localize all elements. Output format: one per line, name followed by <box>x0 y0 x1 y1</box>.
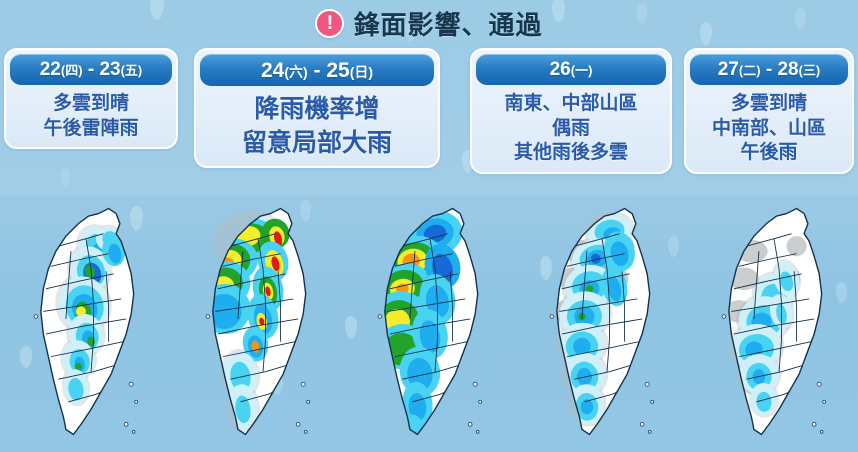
forecast-card-1-line-1: 留意局部大雨 <box>200 127 434 161</box>
taiwan-rainfall-map-26b-svg <box>516 196 688 452</box>
forecast-card-0-date: 22(四) - 23(五) <box>40 60 143 79</box>
forecast-card-0-date-pill: 22(四) - 23(五) <box>10 54 172 85</box>
taiwan-rainfall-map-26 <box>344 196 516 452</box>
forecast-card-2-line-2: 其他雨後多雲 <box>476 141 666 166</box>
forecast-card-1-date-pill: 24(六) - 25(日) <box>200 54 434 86</box>
taiwan-rainfall-map-22-23 <box>0 196 172 452</box>
taiwan-rainfall-map-27-28 <box>688 196 858 452</box>
forecast-card-0-line-0: 多雲到晴 <box>10 92 172 117</box>
forecast-card-3[interactable]: 27(二) - 28(三) 多雲到晴 中南部、山區 午後雨 <box>684 48 854 174</box>
forecast-card-2-date: 26(一) <box>550 60 593 79</box>
raindrop-decor <box>60 168 70 187</box>
taiwan-rainfall-map-27-28-svg <box>688 196 858 452</box>
forecast-card-3-body: 多雲到晴 中南部、山區 午後雨 <box>686 85 852 172</box>
forecast-card-3-line-2: 午後雨 <box>690 141 848 166</box>
forecast-card-0-line-1: 午後雷陣雨 <box>10 117 172 142</box>
forecast-card-3-date: 27(二) - 28(三) <box>718 60 821 79</box>
exclamation-icon: ! <box>315 9 344 38</box>
page-title-row: ! 鋒面影響、通過 <box>0 4 858 42</box>
forecast-card-1-line-0: 降雨機率增 <box>200 93 434 127</box>
forecast-card-3-line-0: 多雲到晴 <box>690 92 848 117</box>
forecast-card-2[interactable]: 26(一) 南東、中部山區 偶雨 其他雨後多雲 <box>470 48 672 174</box>
forecast-card-1-date: 24(六) - 25(日) <box>261 60 373 81</box>
forecast-card-1[interactable]: 24(六) - 25(日) 降雨機率增 留意局部大雨 <box>194 48 440 168</box>
forecast-card-1-body: 降雨機率增 留意局部大雨 <box>196 86 438 166</box>
page-title: 鋒面影響、通過 <box>353 5 542 42</box>
forecast-card-0[interactable]: 22(四) - 23(五) 多雲到晴 午後雷陣雨 <box>4 48 178 149</box>
taiwan-rainfall-map-24-25-svg <box>172 196 344 452</box>
taiwan-rainfall-map-22-23-svg <box>0 196 172 452</box>
rainfall-map-strip <box>0 196 858 452</box>
forecast-card-3-date-pill: 27(二) - 28(三) <box>690 54 848 85</box>
taiwan-rainfall-map-24-25 <box>172 196 344 452</box>
forecast-card-2-date-pill: 26(一) <box>476 54 666 85</box>
exclamation-glyph: ! <box>327 13 334 33</box>
forecast-card-3-line-1: 中南部、山區 <box>690 117 848 142</box>
forecast-card-2-line-1: 偶雨 <box>476 117 666 142</box>
forecast-card-0-body: 多雲到晴 午後雷陣雨 <box>6 85 176 147</box>
taiwan-rainfall-map-26-svg <box>344 196 516 452</box>
taiwan-rainfall-map-26b <box>516 196 688 452</box>
forecast-card-2-body: 南東、中部山區 偶雨 其他雨後多雲 <box>472 85 670 172</box>
forecast-card-2-line-0: 南東、中部山區 <box>476 92 666 117</box>
